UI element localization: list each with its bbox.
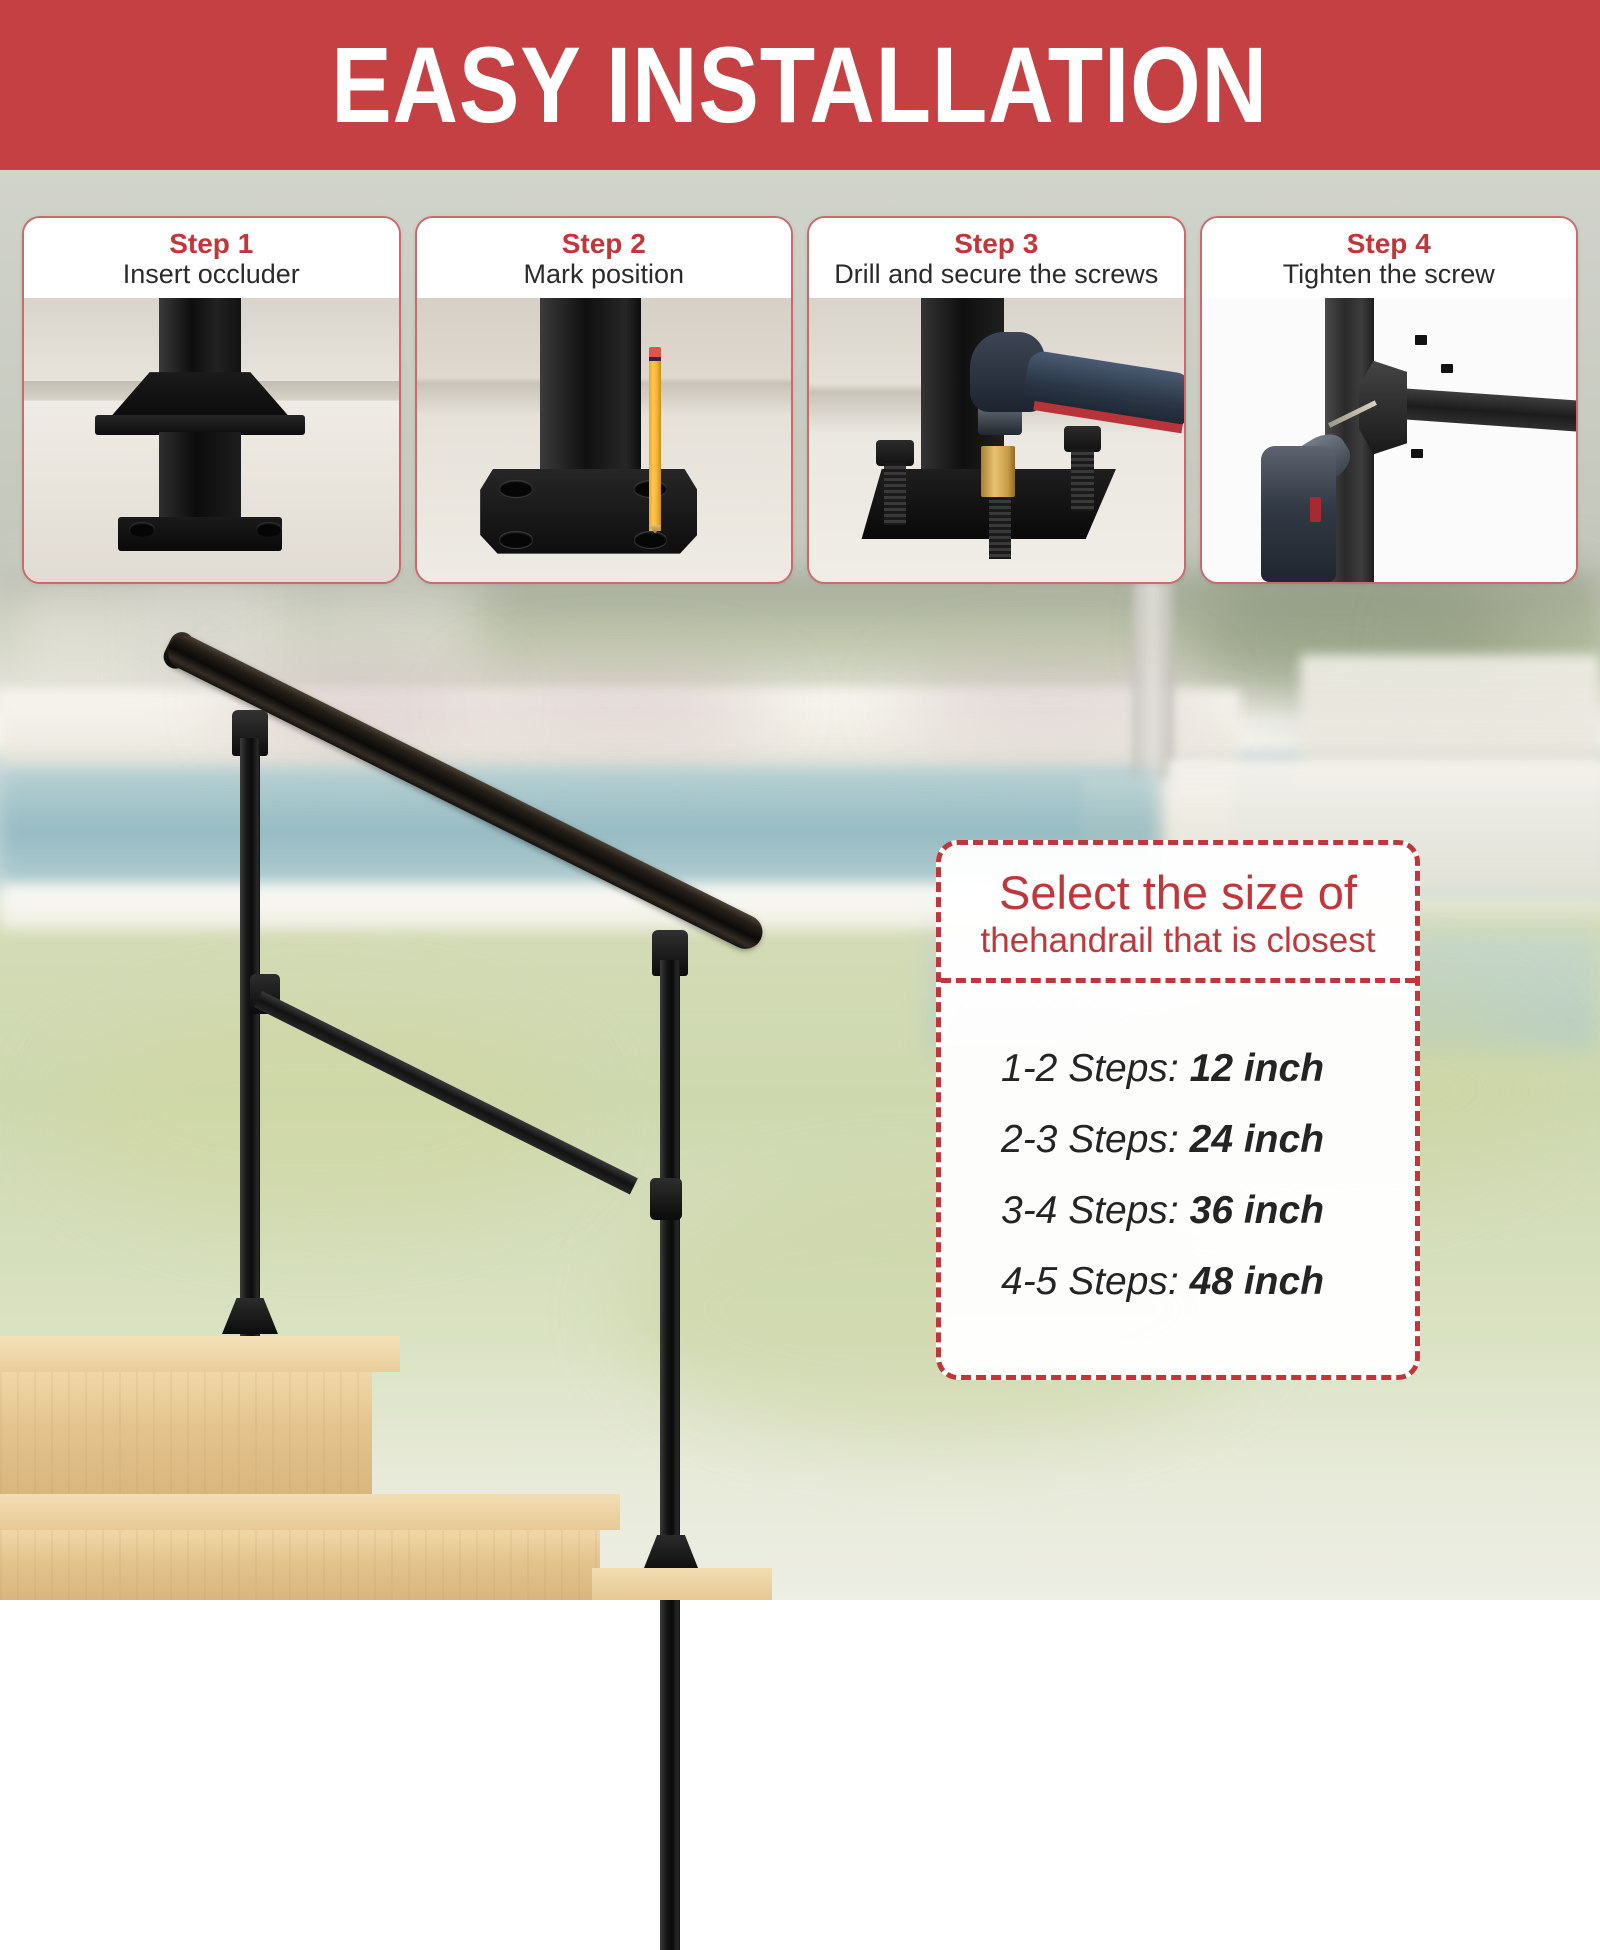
step-3-number: Step 3: [815, 228, 1178, 259]
step-3-anchor-center: [989, 497, 1011, 559]
size-option-3-label: 3-4 Steps:: [1001, 1189, 1179, 1232]
step-2-description: Mark position: [423, 259, 786, 290]
stair-riser-middle: [0, 1530, 600, 1600]
callout-header: Select the size of thehandrail that is c…: [941, 845, 1415, 983]
size-option-4-label: 4-5 Steps:: [1001, 1260, 1179, 1303]
step-4-number: Step 4: [1208, 228, 1571, 259]
step-card-1: Step 1 Insert occluder: [22, 216, 401, 584]
size-option-1-value: 12 inch: [1190, 1047, 1324, 1090]
step-2-number: Step 2: [423, 228, 786, 259]
step-2-pencil-ferrule: [649, 357, 662, 362]
step-2-pencil-eraser: [649, 347, 662, 357]
size-option-2[interactable]: 2-3 Steps: 24 inch: [941, 1104, 1415, 1175]
stair-tread-top: [0, 1336, 400, 1372]
step-3-anchor-head-right: [1064, 426, 1101, 452]
step-3-anchor-right: [1071, 449, 1093, 511]
step-4-drill-accent: [1310, 497, 1321, 523]
header-banner: EASY INSTALLATION: [0, 0, 1600, 170]
step-4-description: Tighten the screw: [1208, 259, 1571, 290]
step-1-bolt-hole-left: [129, 522, 155, 536]
step-3-anchor-left: [884, 463, 906, 525]
size-option-2-value: 24 inch: [1190, 1118, 1324, 1161]
step-card-4: Step 4 Tighten the screw: [1200, 216, 1579, 584]
step-4-header: Step 4 Tighten the screw: [1202, 218, 1577, 298]
size-option-1-label: 1-2 Steps:: [1001, 1047, 1179, 1090]
stair-tread-middle: [0, 1494, 620, 1530]
callout-heading-line-2: thehandrail that is closest: [957, 920, 1399, 962]
step-3-anchor-head-left: [876, 440, 913, 466]
step-1-bolt-hole-right: [256, 522, 282, 536]
step-card-3: Step 3 Drill and secure the screws: [807, 216, 1186, 584]
step-2-post: [540, 298, 641, 480]
installation-steps-row: Step 1 Insert occluder Step 2 Mark posit…: [0, 216, 1600, 584]
step-2-photo: [417, 298, 792, 582]
step-4-screw-1: [1415, 335, 1427, 345]
step-2-bolt-hole-3: [499, 531, 533, 548]
step-4-screw-3: [1411, 449, 1423, 459]
step-4-screw-2: [1441, 364, 1453, 374]
handrail-middle-rail: [254, 991, 638, 1195]
step-3-header: Step 3 Drill and secure the screws: [809, 218, 1184, 298]
size-option-1[interactable]: 1-2 Steps: 12 inch: [941, 1033, 1415, 1104]
handrail-post-base-left: [222, 1298, 278, 1334]
step-2-header: Step 2 Mark position: [417, 218, 792, 298]
step-1-number: Step 1: [30, 228, 393, 259]
size-option-3-value: 36 inch: [1190, 1189, 1324, 1232]
step-1-post-upper: [159, 298, 241, 383]
step-1-description: Insert occluder: [30, 259, 393, 290]
page-title: EASY INSTALLATION: [332, 31, 1269, 139]
step-2-bolt-hole-1: [499, 480, 533, 497]
step-2-pencil-body: [649, 355, 662, 531]
size-option-2-label: 2-3 Steps:: [1001, 1118, 1179, 1161]
step-card-2: Step 2 Mark position: [415, 216, 794, 584]
step-3-brass-bit: [981, 446, 1015, 497]
step-3-description: Drill and secure the screws: [815, 259, 1178, 290]
stair-riser-top: [0, 1372, 372, 1494]
step-1-photo: [24, 298, 399, 582]
step-4-drill-body: [1261, 446, 1336, 582]
handrail-mid-bracket-right: [650, 1178, 682, 1220]
step-4-photo: [1202, 298, 1577, 582]
size-selection-callout: Select the size of thehandrail that is c…: [936, 840, 1420, 1380]
step-1-post-lower: [159, 432, 241, 523]
size-option-3[interactable]: 3-4 Steps: 36 inch: [941, 1175, 1415, 1246]
step-1-header: Step 1 Insert occluder: [24, 218, 399, 298]
size-option-4[interactable]: 4-5 Steps: 48 inch: [941, 1246, 1415, 1317]
stair-tread-bottom: [592, 1568, 772, 1600]
step-3-photo: [809, 298, 1184, 582]
step-2-bolt-hole-4: [634, 531, 668, 548]
size-option-4-value: 48 inch: [1190, 1260, 1324, 1303]
callout-heading-line-1: Select the size of: [957, 867, 1399, 920]
callout-size-list: 1-2 Steps: 12 inch 2-3 Steps: 24 inch 3-…: [941, 983, 1415, 1375]
